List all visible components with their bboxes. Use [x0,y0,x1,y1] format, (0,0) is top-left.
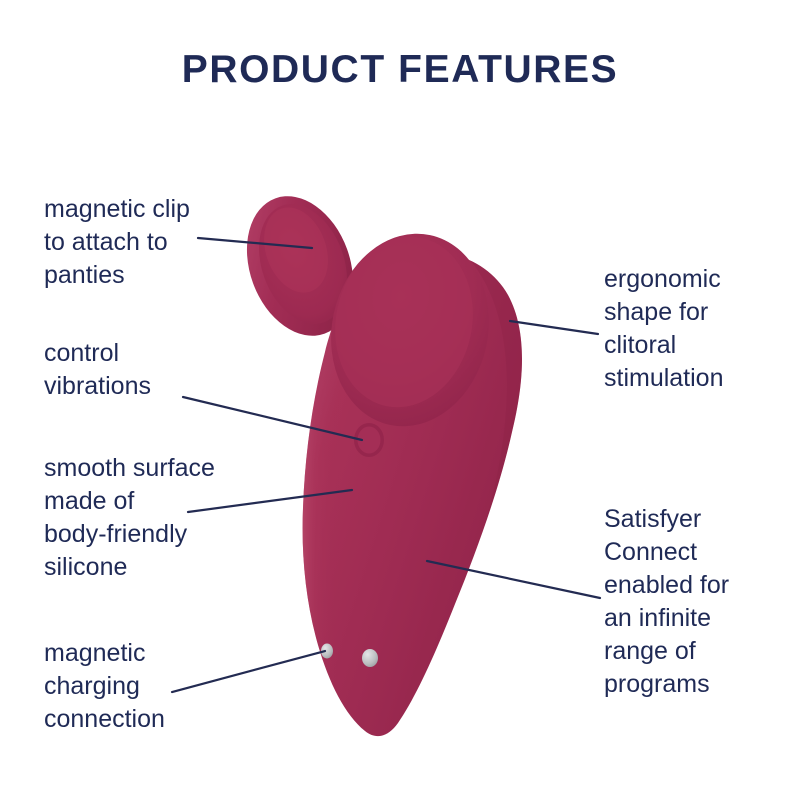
product-features-infographic: PRODUCT FEATURES [0,0,800,800]
callout-control-vibrations: control vibrations [44,337,259,403]
callout-satisfyer-connect: Satisfyer Connect enabled for an infinit… [604,503,799,701]
callout-ergonomic-shape: ergonomic shape for clitoral stimulation [604,263,799,395]
charging-contact-pin-2 [362,649,378,667]
callout-magnetic-clip: magnetic clip to attach to panties [44,193,259,292]
callout-magnetic-charging: magnetic charging connection [44,637,264,736]
leader-line-ergonomic-shape [510,321,598,334]
callout-smooth-surface: smooth surface made of body-friendly sil… [44,452,284,584]
